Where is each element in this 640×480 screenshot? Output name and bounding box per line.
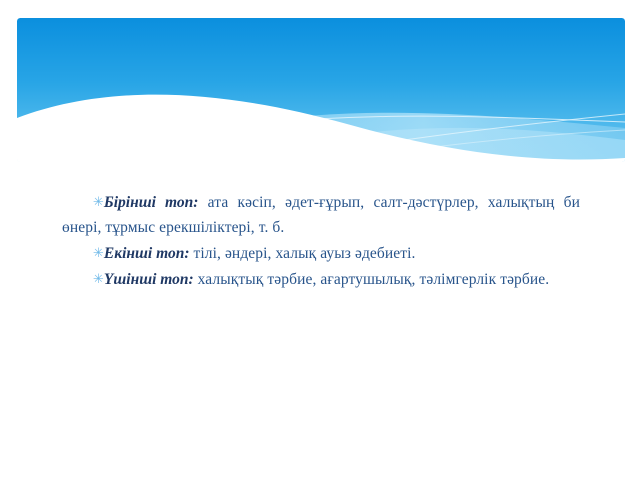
paragraph-first-group: ✳Бірінші топ: ата кәсіп, әдет-ғұрып, сал… xyxy=(62,190,580,240)
paragraph-lead-label: Бірінші топ: xyxy=(104,194,199,211)
paragraph-lead-label: Үшінші топ: xyxy=(104,271,194,288)
slide-canvas: ✳Бірінші топ: ата кәсіп, әдет-ғұрып, сал… xyxy=(0,0,640,480)
paragraph-body-text: халықтық тәрбие, ағартушылық, тәлімгерлі… xyxy=(194,271,550,288)
asterisk-bullet-icon: ✳ xyxy=(93,272,104,287)
paragraph-second-group: ✳Екінші топ: тілі, әндері, халық ауыз әд… xyxy=(62,241,580,266)
body-text-block: ✳Бірінші топ: ата кәсіп, әдет-ғұрып, сал… xyxy=(62,190,580,292)
wave-banner xyxy=(17,18,625,162)
paragraph-body-text: тілі, әндері, халық ауыз әдебиеті. xyxy=(190,245,416,262)
paragraph-third-group: ✳Үшінші топ: халықтық тәрбие, ағартушылы… xyxy=(62,267,580,292)
paragraph-lead-label: Екінші топ: xyxy=(104,245,190,262)
asterisk-bullet-icon: ✳ xyxy=(93,195,104,210)
asterisk-bullet-icon: ✳ xyxy=(93,246,104,261)
wave-banner-graphic xyxy=(17,18,625,162)
